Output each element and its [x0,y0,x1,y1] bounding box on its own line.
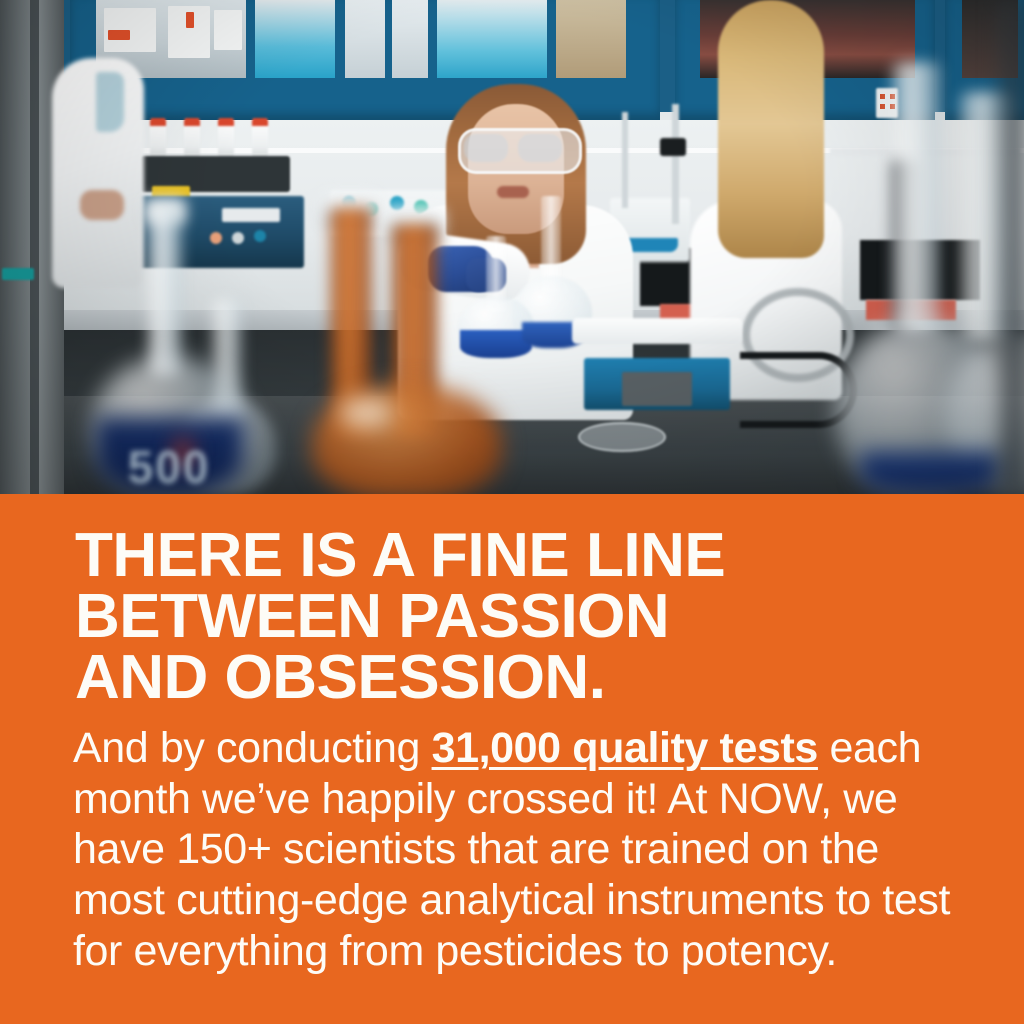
background-scientist-right-hair [718,0,824,258]
cabinet-glass-pane [392,0,428,78]
instrument-knob [232,232,244,244]
headline-line-2: BETWEEN PASSION [75,587,975,648]
analytical-balance-top [572,318,742,344]
teal-accent-marker [2,268,34,280]
cabinet-glass-pane [255,0,335,78]
amber-flask-bulb [312,384,502,494]
lab-stand-clamp [660,138,686,156]
main-scientist-mouth [497,186,529,198]
door-frame-groove [30,0,39,494]
petri-dish [578,422,666,452]
safety-goggles [458,128,582,174]
orange-text-panel: THERE IS A FINE LINE BETWEEN PASSION AND… [0,494,1024,1024]
instrument-knob [210,232,222,244]
cabinet-glass-pane [437,0,547,78]
body-paragraph: And by conducting 31,000 quality tests e… [73,723,953,977]
body-text-part-1: And by conducting [73,724,432,772]
test-tube-cap [218,118,234,126]
flask-volume-label: 500 [104,440,234,494]
photo-right-edge-column [1000,0,1024,494]
headline-line-3: AND OBSESSION. [75,648,975,709]
cabinet-glass-pane [345,0,385,78]
scientist-collar [96,72,124,132]
cabinet-label-dot [108,30,130,40]
instrument-display-panel [222,208,280,222]
scientist-hand [80,190,124,220]
page-title: THERE IS A FINE LINE BETWEEN PASSION AND… [75,526,975,708]
analytical-balance-display [622,372,692,406]
headline-line-1: THERE IS A FINE LINE [75,526,975,587]
cabinet-glass-pane [556,0,626,78]
lab-photo: 500 [0,0,1024,494]
promo-poster: 500 THERE IS A FINE LINE BETWEEN PASSION… [0,0,1024,1024]
cabinet-box [214,10,242,50]
outlet-indicator [880,104,885,109]
lab-stand-pole [672,104,679,224]
lab-stand-pole [622,112,628,208]
cabinet-label-dot [186,12,194,28]
foreground-flask-neck [148,206,182,376]
test-tube-cap [252,118,268,126]
foreground-flask-neck-right [892,62,940,332]
test-tube-cap [184,118,200,126]
body-emphasis-quality-tests: 31,000 quality tests [432,724,818,772]
test-tube-rack [150,118,288,158]
instrument-knob [254,230,266,242]
test-tube-cap [150,118,166,126]
outlet-indicator [880,94,885,99]
amber-flask-highlight [340,398,392,428]
dark-blue-liquid [860,452,1000,494]
